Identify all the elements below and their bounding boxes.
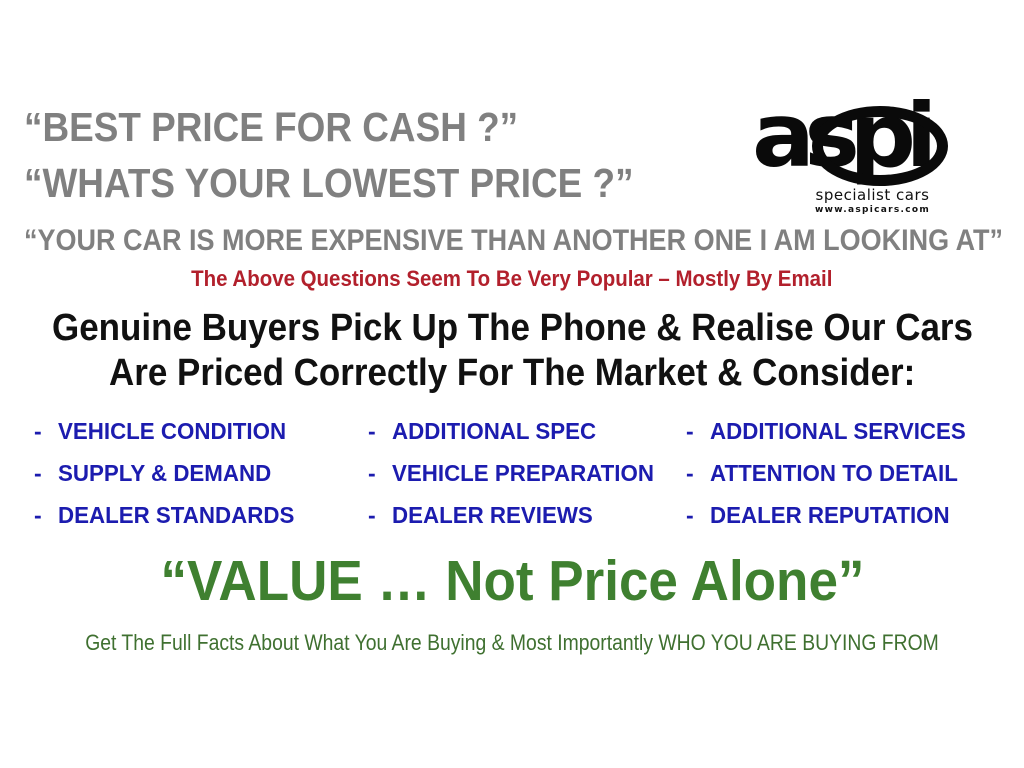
popular-questions-note: The Above Questions Seem To Be Very Popu… bbox=[0, 266, 1024, 292]
bullet-dash-icon: - bbox=[34, 460, 58, 487]
main-heading: Genuine Buyers Pick Up The Phone & Reali… bbox=[0, 306, 1024, 396]
list-item-label: VEHICLE PREPARATION bbox=[392, 460, 654, 487]
question-line-2: “WHATS YOUR LOWEST PRICE ?” bbox=[24, 160, 634, 207]
list-item-label: DEALER STANDARDS bbox=[58, 502, 294, 529]
list-item: - ADDITIONAL SERVICES bbox=[686, 418, 974, 460]
main-heading-line-2: Are Priced Correctly For The Market & Co… bbox=[0, 351, 1024, 396]
main-heading-line-1: Genuine Buyers Pick Up The Phone & Reali… bbox=[0, 306, 1024, 351]
consideration-list: - VEHICLE CONDITION - SUPPLY & DEMAND - … bbox=[0, 418, 1024, 540]
value-headline-text: “VALUE … Not Price Alone” bbox=[160, 548, 864, 614]
list-item-label: SUPPLY & DEMAND bbox=[58, 460, 271, 487]
list-item: - ATTENTION TO DETAIL bbox=[686, 460, 974, 502]
bullet-dash-icon: - bbox=[34, 502, 58, 529]
list-item: - DEALER REPUTATION bbox=[686, 502, 974, 544]
value-headline: “VALUE … Not Price Alone” bbox=[0, 548, 1024, 614]
main-heading-line-1-text: Genuine Buyers Pick Up The Phone & Reali… bbox=[52, 306, 973, 351]
bullet-dash-icon: - bbox=[368, 460, 392, 487]
logo-tagline-text: specialist cars bbox=[780, 188, 965, 204]
consideration-column-2: - ADDITIONAL SPEC - VEHICLE PREPARATION … bbox=[368, 418, 662, 544]
list-item: - VEHICLE PREPARATION bbox=[368, 460, 662, 502]
list-item-label: VEHICLE CONDITION bbox=[58, 418, 286, 445]
logo-url-text: www.aspicars.com bbox=[780, 205, 965, 215]
popular-questions-note-text: The Above Questions Seem To Be Very Popu… bbox=[191, 266, 832, 292]
list-item: - ADDITIONAL SPEC bbox=[368, 418, 662, 460]
list-item-label: ADDITIONAL SPEC bbox=[392, 418, 596, 445]
question-line-3: “YOUR CAR IS MORE EXPENSIVE THAN ANOTHER… bbox=[24, 224, 1003, 258]
logo-ellipse-shape bbox=[812, 106, 948, 186]
consideration-column-1: - VEHICLE CONDITION - SUPPLY & DEMAND - … bbox=[34, 418, 302, 544]
bullet-dash-icon: - bbox=[686, 502, 710, 529]
list-item-label: DEALER REPUTATION bbox=[710, 502, 950, 529]
list-item-label: ADDITIONAL SERVICES bbox=[710, 418, 966, 445]
consideration-column-3: - ADDITIONAL SERVICES - ATTENTION TO DET… bbox=[686, 418, 974, 544]
bullet-dash-icon: - bbox=[686, 460, 710, 487]
list-item: - VEHICLE CONDITION bbox=[34, 418, 302, 460]
list-item: - DEALER REVIEWS bbox=[368, 502, 662, 544]
bullet-dash-icon: - bbox=[34, 418, 58, 445]
closing-tagline: Get The Full Facts About What You Are Bu… bbox=[0, 630, 1024, 656]
list-item: - SUPPLY & DEMAND bbox=[34, 460, 302, 502]
closing-tagline-text: Get The Full Facts About What You Are Bu… bbox=[85, 630, 939, 656]
list-item-label: ATTENTION TO DETAIL bbox=[710, 460, 958, 487]
list-item: - DEALER STANDARDS bbox=[34, 502, 302, 544]
bullet-dash-icon: - bbox=[368, 418, 392, 445]
logo-mark: aspi bbox=[752, 104, 982, 190]
slide-canvas: aspi specialist cars www.aspicars.com “B… bbox=[0, 0, 1024, 768]
main-heading-line-2-text: Are Priced Correctly For The Market & Co… bbox=[109, 351, 915, 396]
list-item-label: DEALER REVIEWS bbox=[392, 502, 593, 529]
bullet-dash-icon: - bbox=[368, 502, 392, 529]
question-line-1: “BEST PRICE FOR CASH ?” bbox=[24, 104, 518, 151]
bullet-dash-icon: - bbox=[686, 418, 710, 445]
aspi-logo: aspi specialist cars www.aspicars.com bbox=[752, 104, 982, 224]
